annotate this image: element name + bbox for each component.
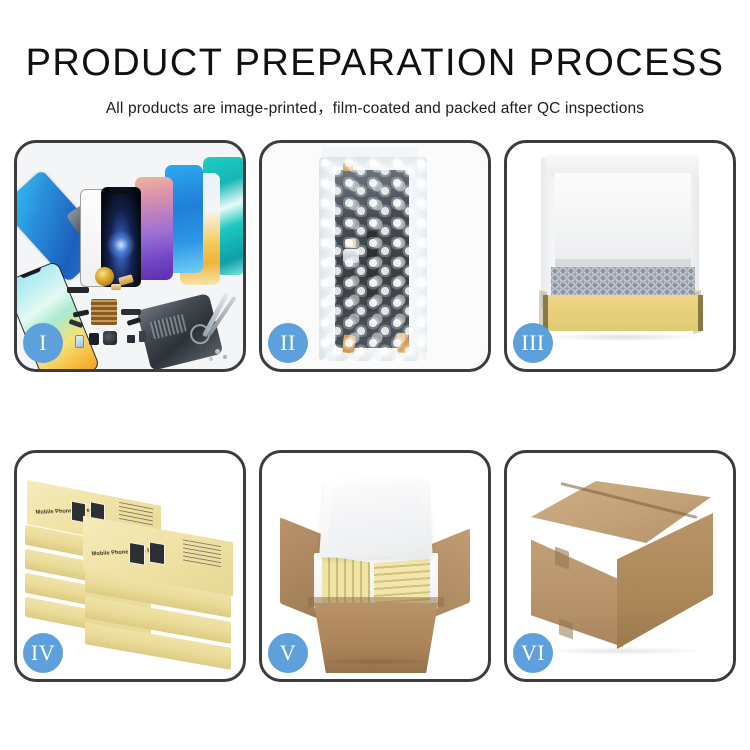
black-bar-part bbox=[67, 287, 89, 293]
white-foam-sheet bbox=[555, 173, 691, 271]
camera-module bbox=[103, 331, 117, 345]
step-panel-4: Mobile Phone Spare Parts Mobile Phone Sp… bbox=[14, 450, 246, 682]
step-panel-5: V bbox=[259, 450, 491, 682]
small-component-2 bbox=[139, 331, 146, 342]
grey-bubble-layer bbox=[551, 267, 695, 297]
screw-1 bbox=[215, 349, 220, 354]
product-preparation-infographic: PRODUCT PREPARATION PROCESS All products… bbox=[0, 0, 750, 750]
gold-coil-part bbox=[95, 267, 114, 286]
step-badge-3: III bbox=[513, 323, 553, 363]
foam-shadow-edge bbox=[555, 259, 691, 267]
step-badge-2: II bbox=[268, 323, 308, 363]
step-badge-6: VI bbox=[513, 633, 553, 673]
step-badge-1: I bbox=[23, 323, 63, 363]
chip-grid-part bbox=[91, 299, 117, 325]
sealed-carton-shadow bbox=[541, 647, 701, 655]
screw-2 bbox=[223, 355, 227, 359]
label-window-2b bbox=[149, 541, 165, 565]
bubble-wrap-bag bbox=[319, 157, 427, 361]
gold-connector-2 bbox=[111, 284, 121, 290]
process-step-grid: I II bbox=[14, 140, 736, 700]
flex-cable-3 bbox=[121, 309, 141, 315]
carton-drop-shadow bbox=[316, 658, 436, 665]
step-badge-5: V bbox=[268, 633, 308, 673]
page-subtitle: All products are image-printed，film-coat… bbox=[0, 96, 750, 118]
page-title: PRODUCT PREPARATION PROCESS bbox=[0, 42, 750, 85]
step-panel-6: VI bbox=[504, 450, 736, 682]
step-badge-4: IV bbox=[23, 633, 63, 673]
bubble-highlight-texture bbox=[319, 157, 427, 361]
screw-3 bbox=[209, 357, 213, 361]
camera-module-2 bbox=[89, 333, 99, 345]
carton-left-face bbox=[531, 525, 623, 647]
box-drop-shadow bbox=[547, 333, 699, 341]
styrofoam-lid bbox=[319, 479, 433, 558]
step-panel-1: I bbox=[14, 140, 246, 372]
label-window-2a bbox=[129, 542, 145, 566]
sim-tray-part bbox=[75, 335, 84, 348]
yellow-box-front bbox=[543, 295, 703, 331]
header: PRODUCT PREPARATION PROCESS All products… bbox=[0, 0, 750, 118]
step-panel-2: II bbox=[259, 140, 491, 372]
step-panel-3: III bbox=[504, 140, 736, 372]
small-component-1 bbox=[127, 335, 135, 343]
